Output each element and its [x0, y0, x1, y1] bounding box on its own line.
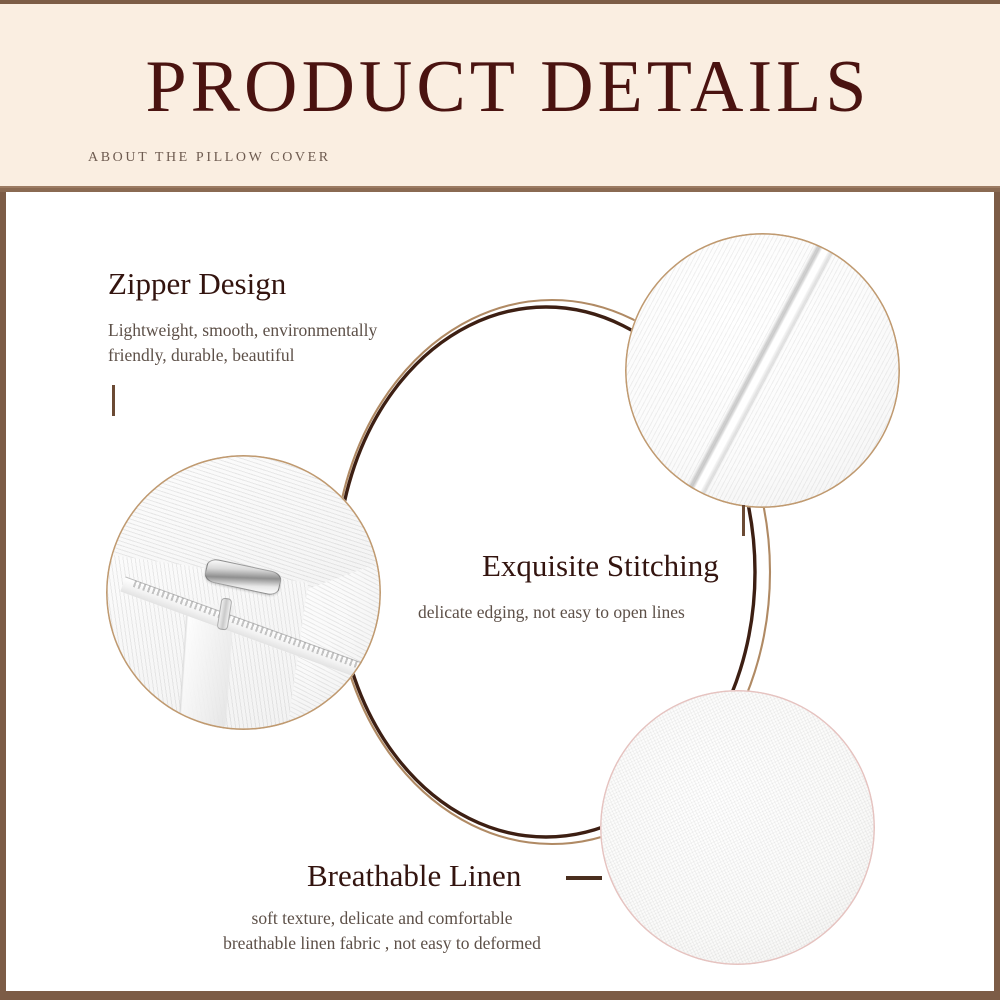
feature-desc-linen-line1: soft texture, delicate and comfortable [182, 906, 582, 931]
feature-desc-zipper-line1: Lightweight, smooth, environmentally [108, 318, 468, 343]
stitching-photo-circle [625, 233, 900, 508]
feature-desc-linen: soft texture, delicate and comfortable b… [182, 906, 582, 956]
feature-tick-stitching [742, 505, 745, 536]
linen-photo-image [600, 690, 875, 965]
feature-title-linen: Breathable Linen [307, 858, 521, 894]
zipper-photo-image [106, 455, 381, 730]
feature-dash-linen [566, 876, 602, 880]
feature-tick-zipper [112, 385, 115, 416]
product-details-infographic: PRODUCT DETAILS ABOUT THE PILLOW COVER Z… [0, 0, 1000, 1000]
feature-desc-linen-line2: breathable linen fabric , not easy to de… [182, 931, 582, 956]
feature-desc-zipper: Lightweight, smooth, environmentally fri… [108, 318, 468, 368]
linen-photo-circle [600, 690, 875, 965]
stitching-photo-image [625, 233, 900, 508]
feature-title-zipper: Zipper Design [108, 266, 286, 302]
feature-desc-stitching: delicate edging, not easy to open lines [418, 600, 778, 625]
frame-border-bottom [0, 991, 1000, 1000]
header-divider-highlight [0, 186, 1000, 188]
page-title: PRODUCT DETAILS [78, 44, 938, 130]
feature-title-stitching: Exquisite Stitching [482, 548, 719, 584]
feature-desc-zipper-line2: friendly, durable, beautiful [108, 343, 468, 368]
page-subtitle: ABOUT THE PILLOW COVER [88, 150, 331, 166]
zipper-photo-circle [106, 455, 381, 730]
